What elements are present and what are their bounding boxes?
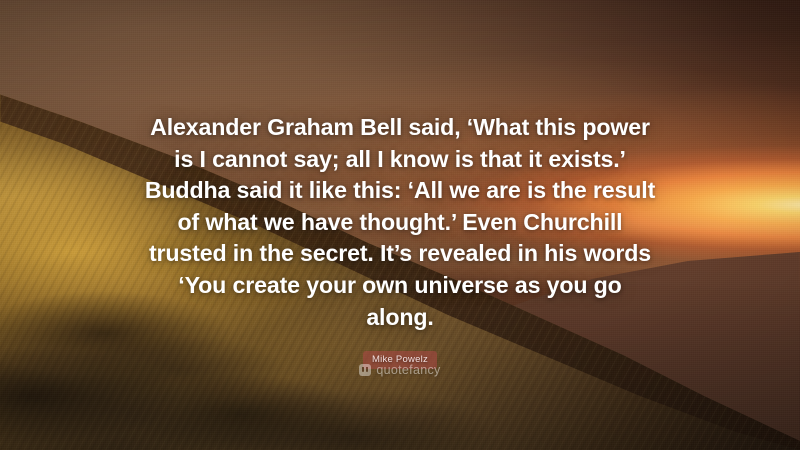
quotefancy-watermark: quotefancy [0,363,800,377]
quote-text: Alexander Graham Bell said, ‘What this p… [142,112,658,333]
quote-poster: Alexander Graham Bell said, ‘What this p… [0,0,800,450]
poster-content: Alexander Graham Bell said, ‘What this p… [0,0,800,450]
quotefancy-brand-text: quotefancy [376,363,440,377]
quotefancy-logo-icon [359,364,371,376]
